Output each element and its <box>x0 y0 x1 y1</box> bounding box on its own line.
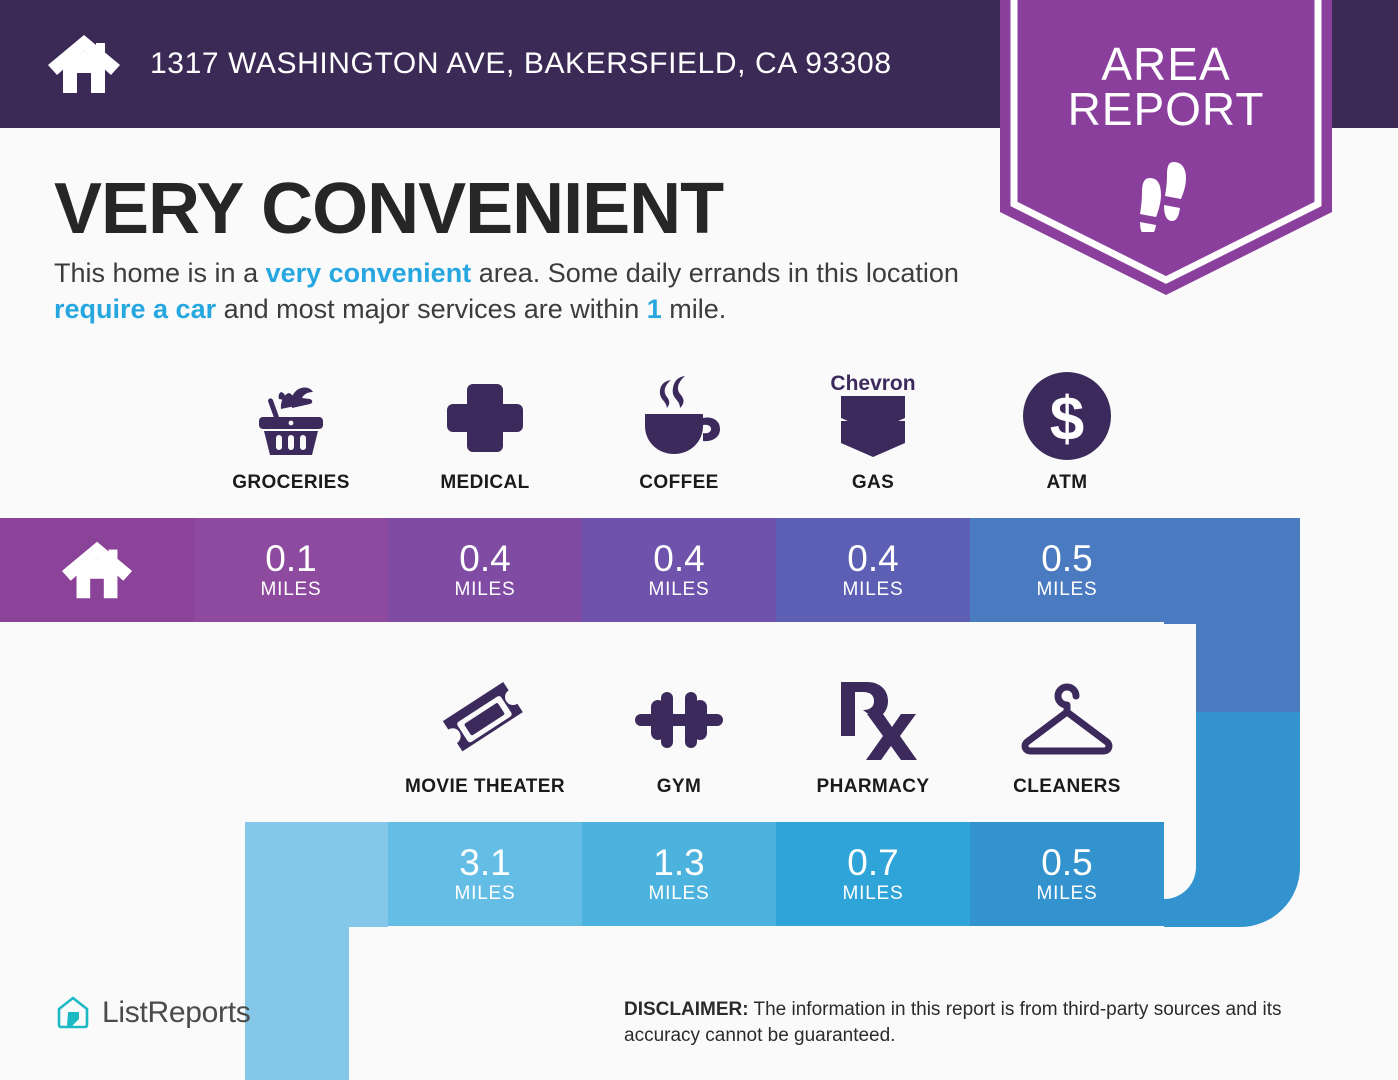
icon-cell-gas: Chevron GAS <box>776 368 970 494</box>
icon-label: ATM <box>1047 472 1088 494</box>
coffee-cup-icon <box>631 368 727 463</box>
icon-cell-medical: MEDICAL <box>388 368 582 494</box>
distance-cell-gym: 1.3 MILES <box>582 822 776 926</box>
house-icon <box>60 539 134 601</box>
dollar-circle-icon: $ <box>1021 368 1113 463</box>
distance-value: 0.5 <box>1041 540 1092 578</box>
distance-unit: MILES <box>842 579 903 601</box>
distance-value: 0.7 <box>847 844 898 882</box>
icon-row-secondary: MOVIE THEATER GYM <box>388 672 1164 798</box>
subtitle-highlight-2: require a car <box>54 294 216 324</box>
distance-value: 0.1 <box>265 540 316 578</box>
subtitle-text-2: area. Some daily errands in this locatio… <box>471 258 959 288</box>
svg-text:Chevron: Chevron <box>830 372 915 395</box>
distance-unit: MILES <box>842 883 903 905</box>
movie-ticket-icon <box>437 672 533 767</box>
distance-unit: MILES <box>454 883 515 905</box>
area-report-badge: AREA REPORT <box>1000 0 1332 295</box>
page-title: VERY CONVENIENT <box>54 168 723 250</box>
icon-cell-coffee: COFFEE <box>582 368 776 494</box>
distance-cell-movie-theater: 3.1 MILES <box>388 822 582 926</box>
distance-cell-coffee: 0.4 MILES <box>582 518 776 622</box>
subtitle-highlight-3: 1 <box>647 294 662 324</box>
page-subtitle: This home is in a very convenient area. … <box>54 255 989 327</box>
medical-cross-icon <box>439 368 531 463</box>
distance-value: 1.3 <box>653 844 704 882</box>
icon-label: MOVIE THEATER <box>405 776 565 798</box>
distance-unit: MILES <box>648 579 709 601</box>
distance-value: 0.5 <box>1041 844 1092 882</box>
distance-cell-pharmacy: 0.7 MILES <box>776 822 970 926</box>
subtitle-highlight-1: very convenient <box>266 258 472 288</box>
distance-bar-row-primary: 0.1 MILES 0.4 MILES 0.4 MILES 0.4 MILES … <box>0 518 1164 622</box>
distance-cell-cleaners: 0.5 MILES <box>970 822 1164 926</box>
distance-value: 0.4 <box>459 540 510 578</box>
icon-label: COFFEE <box>639 472 718 494</box>
subtitle-text-4: mile. <box>662 294 727 324</box>
icon-label: GROCERIES <box>232 472 350 494</box>
subtitle-text-1: This home is in a <box>54 258 266 288</box>
disclaimer-label: DISCLAIMER: <box>624 999 749 1020</box>
home-marker-cell <box>0 518 194 622</box>
listreports-logo-icon <box>55 995 91 1031</box>
svg-text:$: $ <box>1050 385 1084 454</box>
icon-cell-movie-theater: MOVIE THEATER <box>388 672 582 798</box>
chevron-gas-icon: Chevron <box>823 368 923 463</box>
icon-label: MEDICAL <box>440 472 529 494</box>
icon-cell-groceries: GROCERIES <box>194 368 388 494</box>
badge-title: AREA REPORT <box>1000 42 1332 132</box>
footprints-icon <box>1128 160 1204 232</box>
distance-unit: MILES <box>1036 579 1097 601</box>
icon-cell-pharmacy: PHARMACY <box>776 672 970 798</box>
icon-label: GAS <box>852 472 894 494</box>
distance-unit: MILES <box>260 579 321 601</box>
distance-unit: MILES <box>648 883 709 905</box>
disclaimer: DISCLAIMER: The information in this repo… <box>624 997 1354 1049</box>
distance-unit: MILES <box>1036 883 1097 905</box>
listreports-logo: ListReports <box>55 995 250 1031</box>
distance-value: 3.1 <box>459 844 510 882</box>
distance-cell-atm: 0.5 MILES <box>970 518 1164 622</box>
distance-bar-row-secondary: 3.1 MILES 1.3 MILES 0.7 MILES 0.5 MILES <box>388 822 1164 926</box>
distance-cell-medical: 0.4 MILES <box>388 518 582 622</box>
distance-unit: MILES <box>454 579 515 601</box>
icon-label: CLEANERS <box>1013 776 1121 798</box>
badge-line-2: REPORT <box>1000 87 1332 132</box>
header-address: 1317 WASHINGTON AVE, BAKERSFIELD, CA 933… <box>150 47 892 81</box>
clothes-hanger-icon <box>1015 672 1119 767</box>
subtitle-text-3: and most major services are within <box>216 294 647 324</box>
distance-value: 0.4 <box>653 540 704 578</box>
house-icon <box>46 33 122 95</box>
rx-icon <box>827 672 919 767</box>
distance-value: 0.4 <box>847 540 898 578</box>
icon-label: GYM <box>657 776 701 798</box>
listreports-logo-text: ListReports <box>102 996 250 1030</box>
badge-line-1: AREA <box>1000 42 1332 87</box>
icon-cell-gym: GYM <box>582 672 776 798</box>
distance-cell-gas: 0.4 MILES <box>776 518 970 622</box>
distance-cell-groceries: 0.1 MILES <box>194 518 388 622</box>
icon-cell-atm: $ ATM <box>970 368 1164 494</box>
dumbbell-icon <box>629 672 729 767</box>
icon-row-primary: GROCERIES MEDICAL COFFEE Chevron <box>194 368 1164 494</box>
grocery-basket-icon <box>245 368 337 463</box>
icon-label: PHARMACY <box>817 776 930 798</box>
icon-cell-cleaners: CLEANERS <box>970 672 1164 798</box>
